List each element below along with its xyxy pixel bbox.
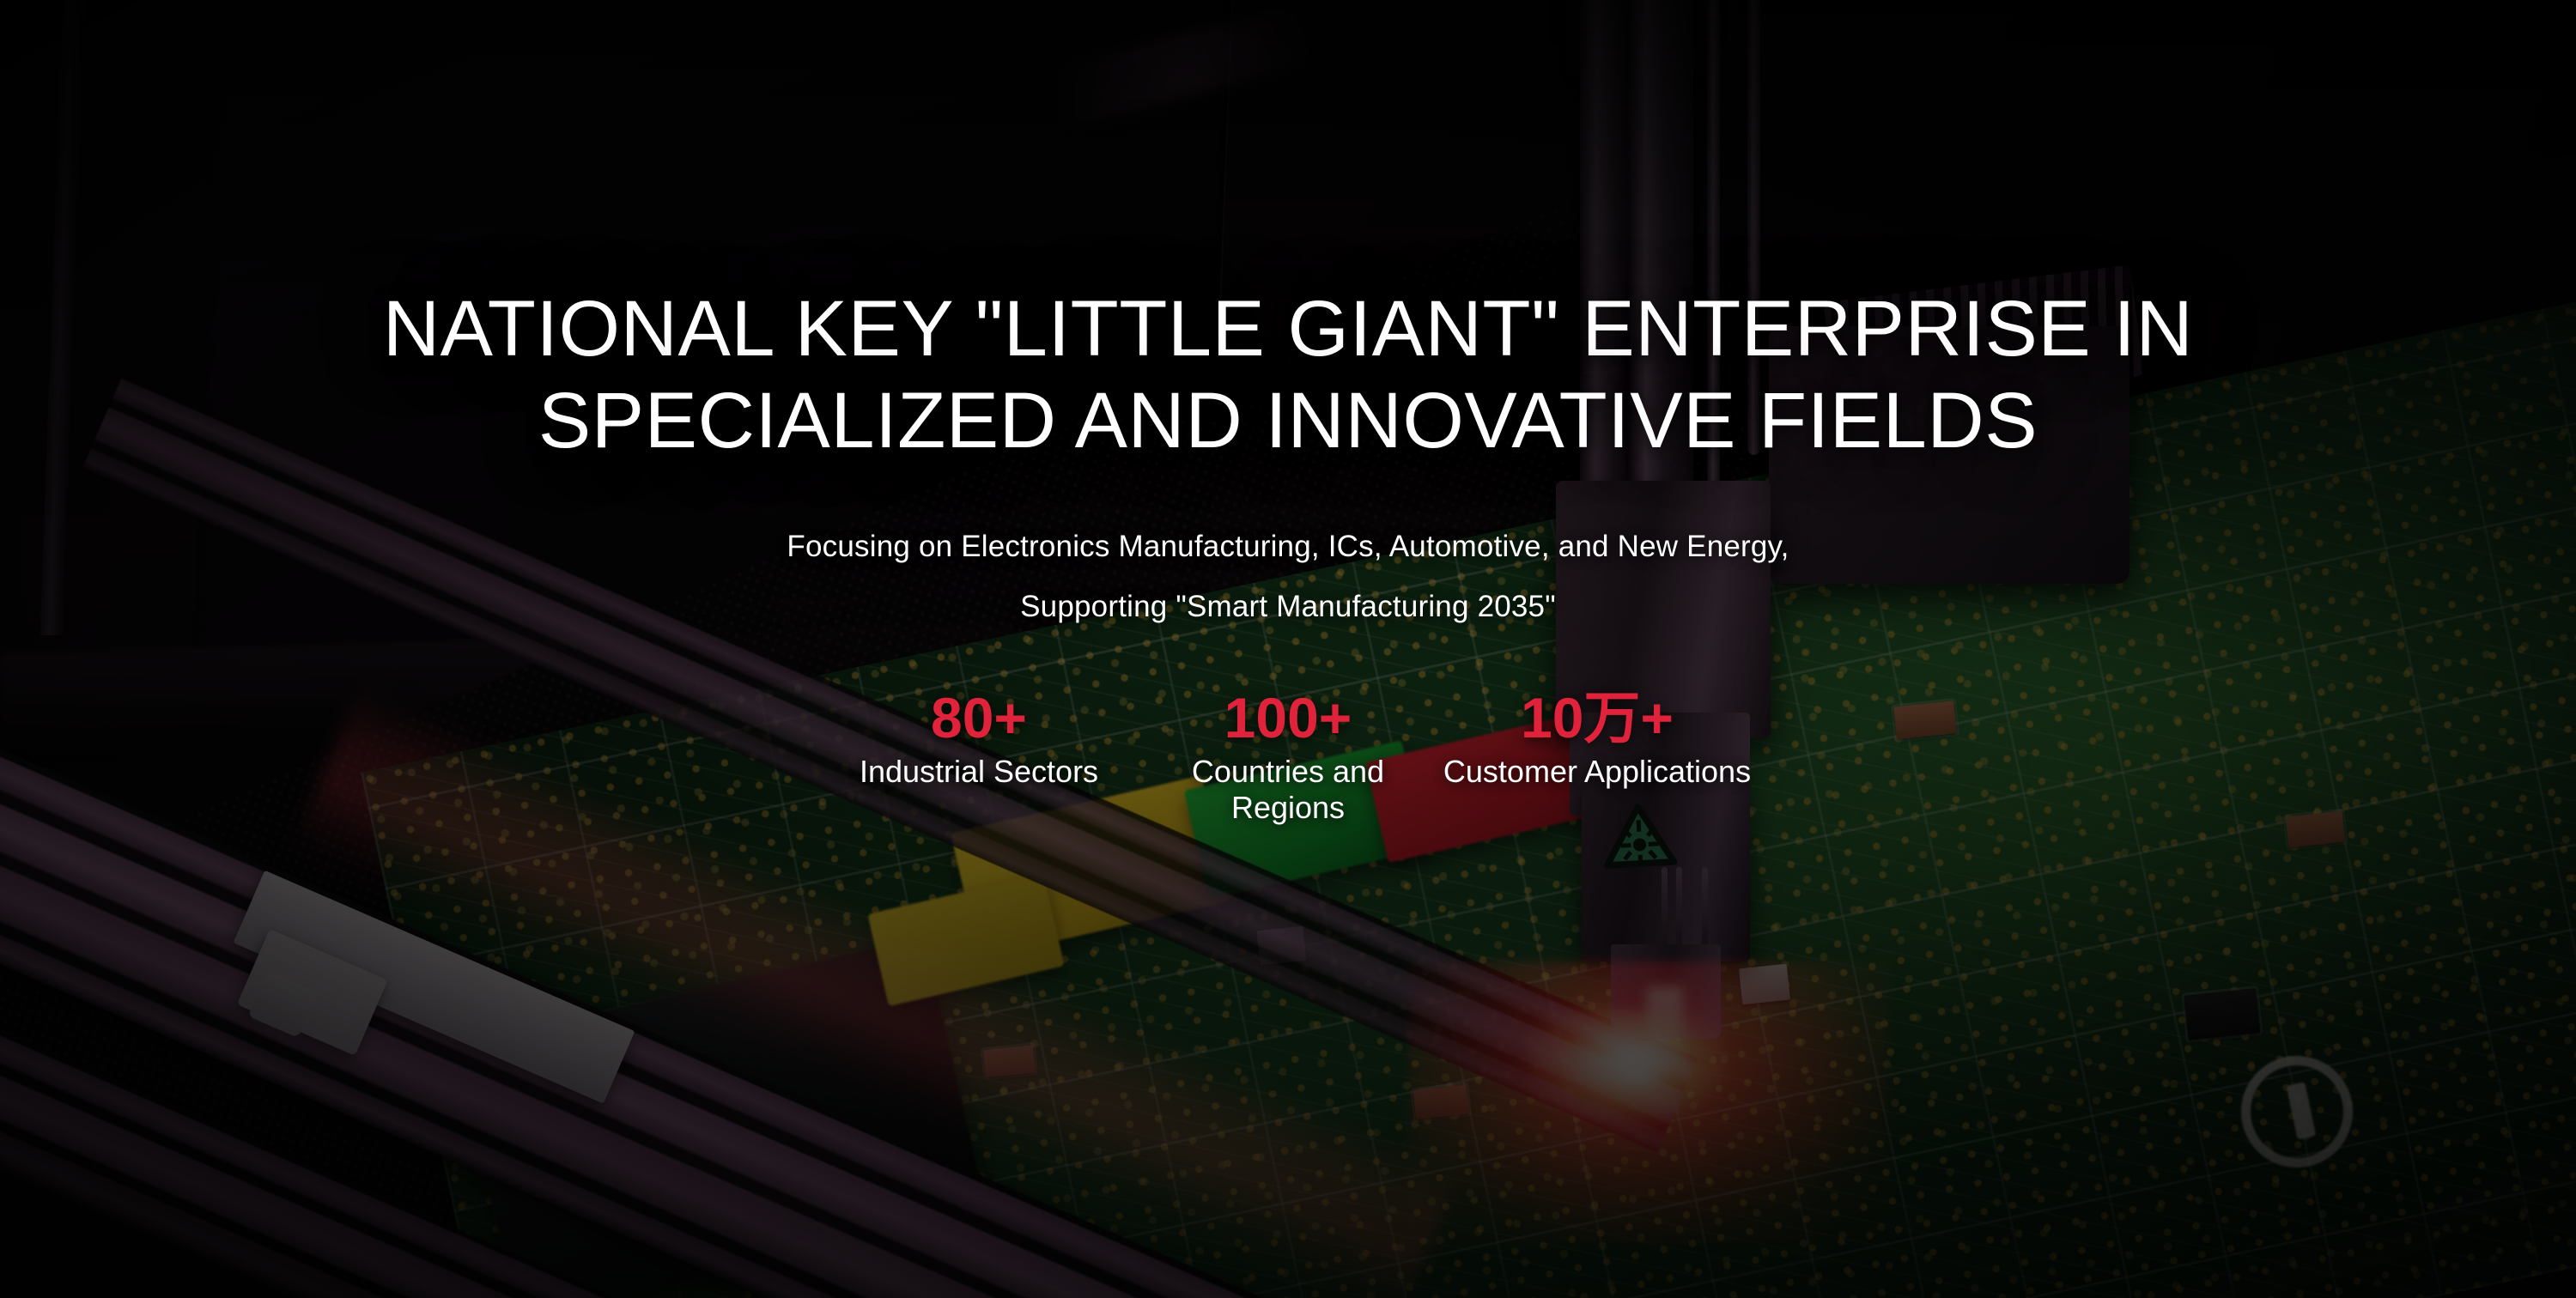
hero-headline: NATIONAL KEY "LITTLE GIANT" ENTERPRISE I… <box>0 283 2576 466</box>
stat-label: Industrial Sectors <box>824 754 1133 790</box>
stat-value: 100+ <box>1133 687 1443 750</box>
stat-customer-applications: 10万+ Customer Applications <box>1443 687 1752 790</box>
hero-stats-row: 80+ Industrial Sectors 100+ Countries an… <box>0 687 2576 826</box>
hero-subtitle-line-1: Focusing on Electronics Manufacturing, I… <box>787 530 1789 563</box>
stat-value: 10万+ <box>1443 687 1752 750</box>
hero-text-overlay: NATIONAL KEY "LITTLE GIANT" ENTERPRISE I… <box>0 0 2576 1298</box>
stat-value: 80+ <box>824 687 1133 750</box>
stat-industrial-sectors: 80+ Industrial Sectors <box>824 687 1133 790</box>
stat-label: Countries and Regions <box>1133 754 1443 826</box>
hero-subtitle: Focusing on Electronics Manufacturing, I… <box>0 517 2576 637</box>
hero-subtitle-line-2: Supporting "Smart Manufacturing 2035" <box>0 577 2576 637</box>
stat-label: Customer Applications <box>1443 754 1752 790</box>
stat-countries-and-regions: 100+ Countries and Regions <box>1133 687 1443 826</box>
hero-banner: P4L5B74AC125 <box>0 0 2576 1298</box>
